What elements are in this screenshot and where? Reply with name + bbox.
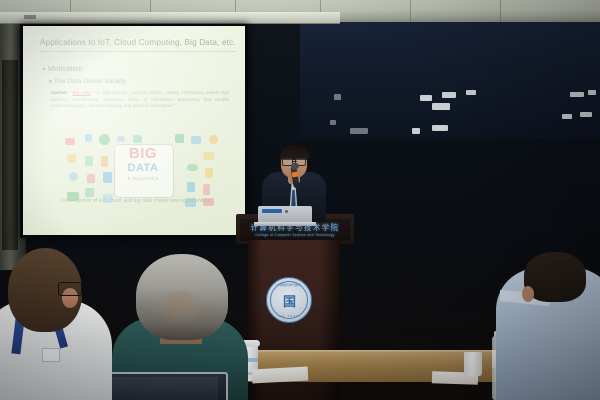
room-highlight — [330, 120, 336, 125]
gear-icon — [69, 172, 78, 181]
room-highlight — [432, 125, 448, 131]
bullet-square-icon — [43, 68, 45, 70]
room-highlight — [420, 95, 432, 101]
monitor-icon — [185, 198, 196, 207]
globe-icon — [99, 134, 110, 145]
projection-screen: Applications to IoT, Cloud Computing, Bi… — [23, 26, 245, 235]
quote-colon: : “ — [68, 90, 73, 95]
graphic-word-data: DATA — [117, 162, 169, 174]
room-highlight — [334, 94, 341, 100]
arrow-bullet-icon: ➤ — [48, 78, 53, 85]
audience-member-right-ear — [522, 286, 534, 302]
network-icon — [67, 192, 79, 201]
lock-icon — [87, 174, 95, 183]
seal-text-bottom: C S · T E C H — [267, 315, 311, 318]
room-highlight — [588, 90, 596, 95]
audience-member-center-crown — [156, 290, 204, 326]
home-icon — [133, 135, 142, 143]
download-icon — [103, 172, 112, 183]
cloud-icon — [187, 164, 198, 171]
seal-ring — [270, 281, 308, 319]
pin-icon — [187, 182, 195, 192]
thumbs-up-icon — [85, 188, 94, 197]
room-highlight — [570, 92, 584, 97]
presentation-photo-scene: Applications to IoT, Cloud Computing, Bi… — [0, 0, 600, 400]
slide-title: Applications to IoT, Cloud Computing, Bi… — [40, 38, 240, 47]
podium-sign-english: College of Computer Science and Technolo… — [255, 233, 334, 237]
window-icon — [103, 194, 113, 203]
quote-body: ” is high-volume, -velocity and/or -vari… — [51, 90, 229, 108]
big-data-card — [114, 144, 174, 198]
room-highlight — [466, 90, 476, 95]
big-data-analytics-graphic: BIG DATA & ANALYTICS — [63, 134, 223, 212]
slide-bullet-motivation: Motivation — [43, 64, 83, 73]
door-frame — [2, 60, 18, 250]
laptop-badge-sticker — [262, 209, 282, 213]
room-highlight — [432, 103, 450, 110]
room-highlight — [562, 114, 572, 119]
print-icon — [203, 198, 214, 206]
big-data-link[interactable]: Big Data — [72, 90, 90, 95]
share-icon — [175, 134, 184, 143]
battery-icon — [101, 156, 108, 167]
laptop-logo-dot — [285, 210, 288, 213]
slide-bullet-2-label: The Data-Driven Society — [54, 78, 126, 85]
microphone-orange-band — [292, 172, 299, 178]
wifi-icon — [117, 136, 125, 142]
audience-member-left-glasses-icon — [58, 282, 82, 296]
slide-bullet-data-driven-society: ➤The Data-Driven Society — [48, 78, 126, 85]
video-icon — [65, 138, 75, 145]
gartner-quote: Gartner: “Big Data ” is high-volume, -ve… — [51, 90, 229, 110]
microphone-head — [291, 163, 299, 169]
bulb-icon — [205, 168, 213, 178]
phone-icon — [85, 134, 92, 142]
paper-cup — [464, 352, 482, 376]
wall-blue-panel — [300, 18, 600, 138]
audience-laptop-screen — [102, 377, 218, 400]
university-seal: 计算机科学与技术 国 C S · T E C H — [266, 277, 312, 323]
mail-icon — [203, 152, 214, 160]
room-highlight — [350, 128, 368, 134]
room-highlight — [580, 112, 592, 117]
table-papers — [252, 367, 309, 384]
room-highlight — [412, 128, 420, 134]
chart-icon — [67, 154, 76, 163]
podium-laptop-base — [254, 222, 316, 226]
graphic-word-big: BIG — [117, 146, 169, 161]
document-icon — [85, 156, 93, 166]
graphic-word-analytics: & ANALYTICS — [117, 176, 169, 181]
projector-screen-roller — [0, 12, 340, 24]
folder-icon — [191, 136, 201, 144]
slide-caption: Convergence of IoT, cloud, and big data … — [41, 198, 231, 204]
room-highlight — [442, 92, 456, 98]
slide-title-rule — [40, 51, 236, 52]
microphone-icon — [203, 184, 210, 195]
seal-text-top: 计算机科学与技术 — [267, 283, 311, 287]
lanyard-badge — [42, 348, 60, 362]
roller-logo — [24, 15, 36, 19]
gartner-label: Gartner — [51, 90, 68, 95]
search-icon — [209, 135, 218, 144]
slide-bullet-1-label: Motivation — [48, 64, 83, 73]
